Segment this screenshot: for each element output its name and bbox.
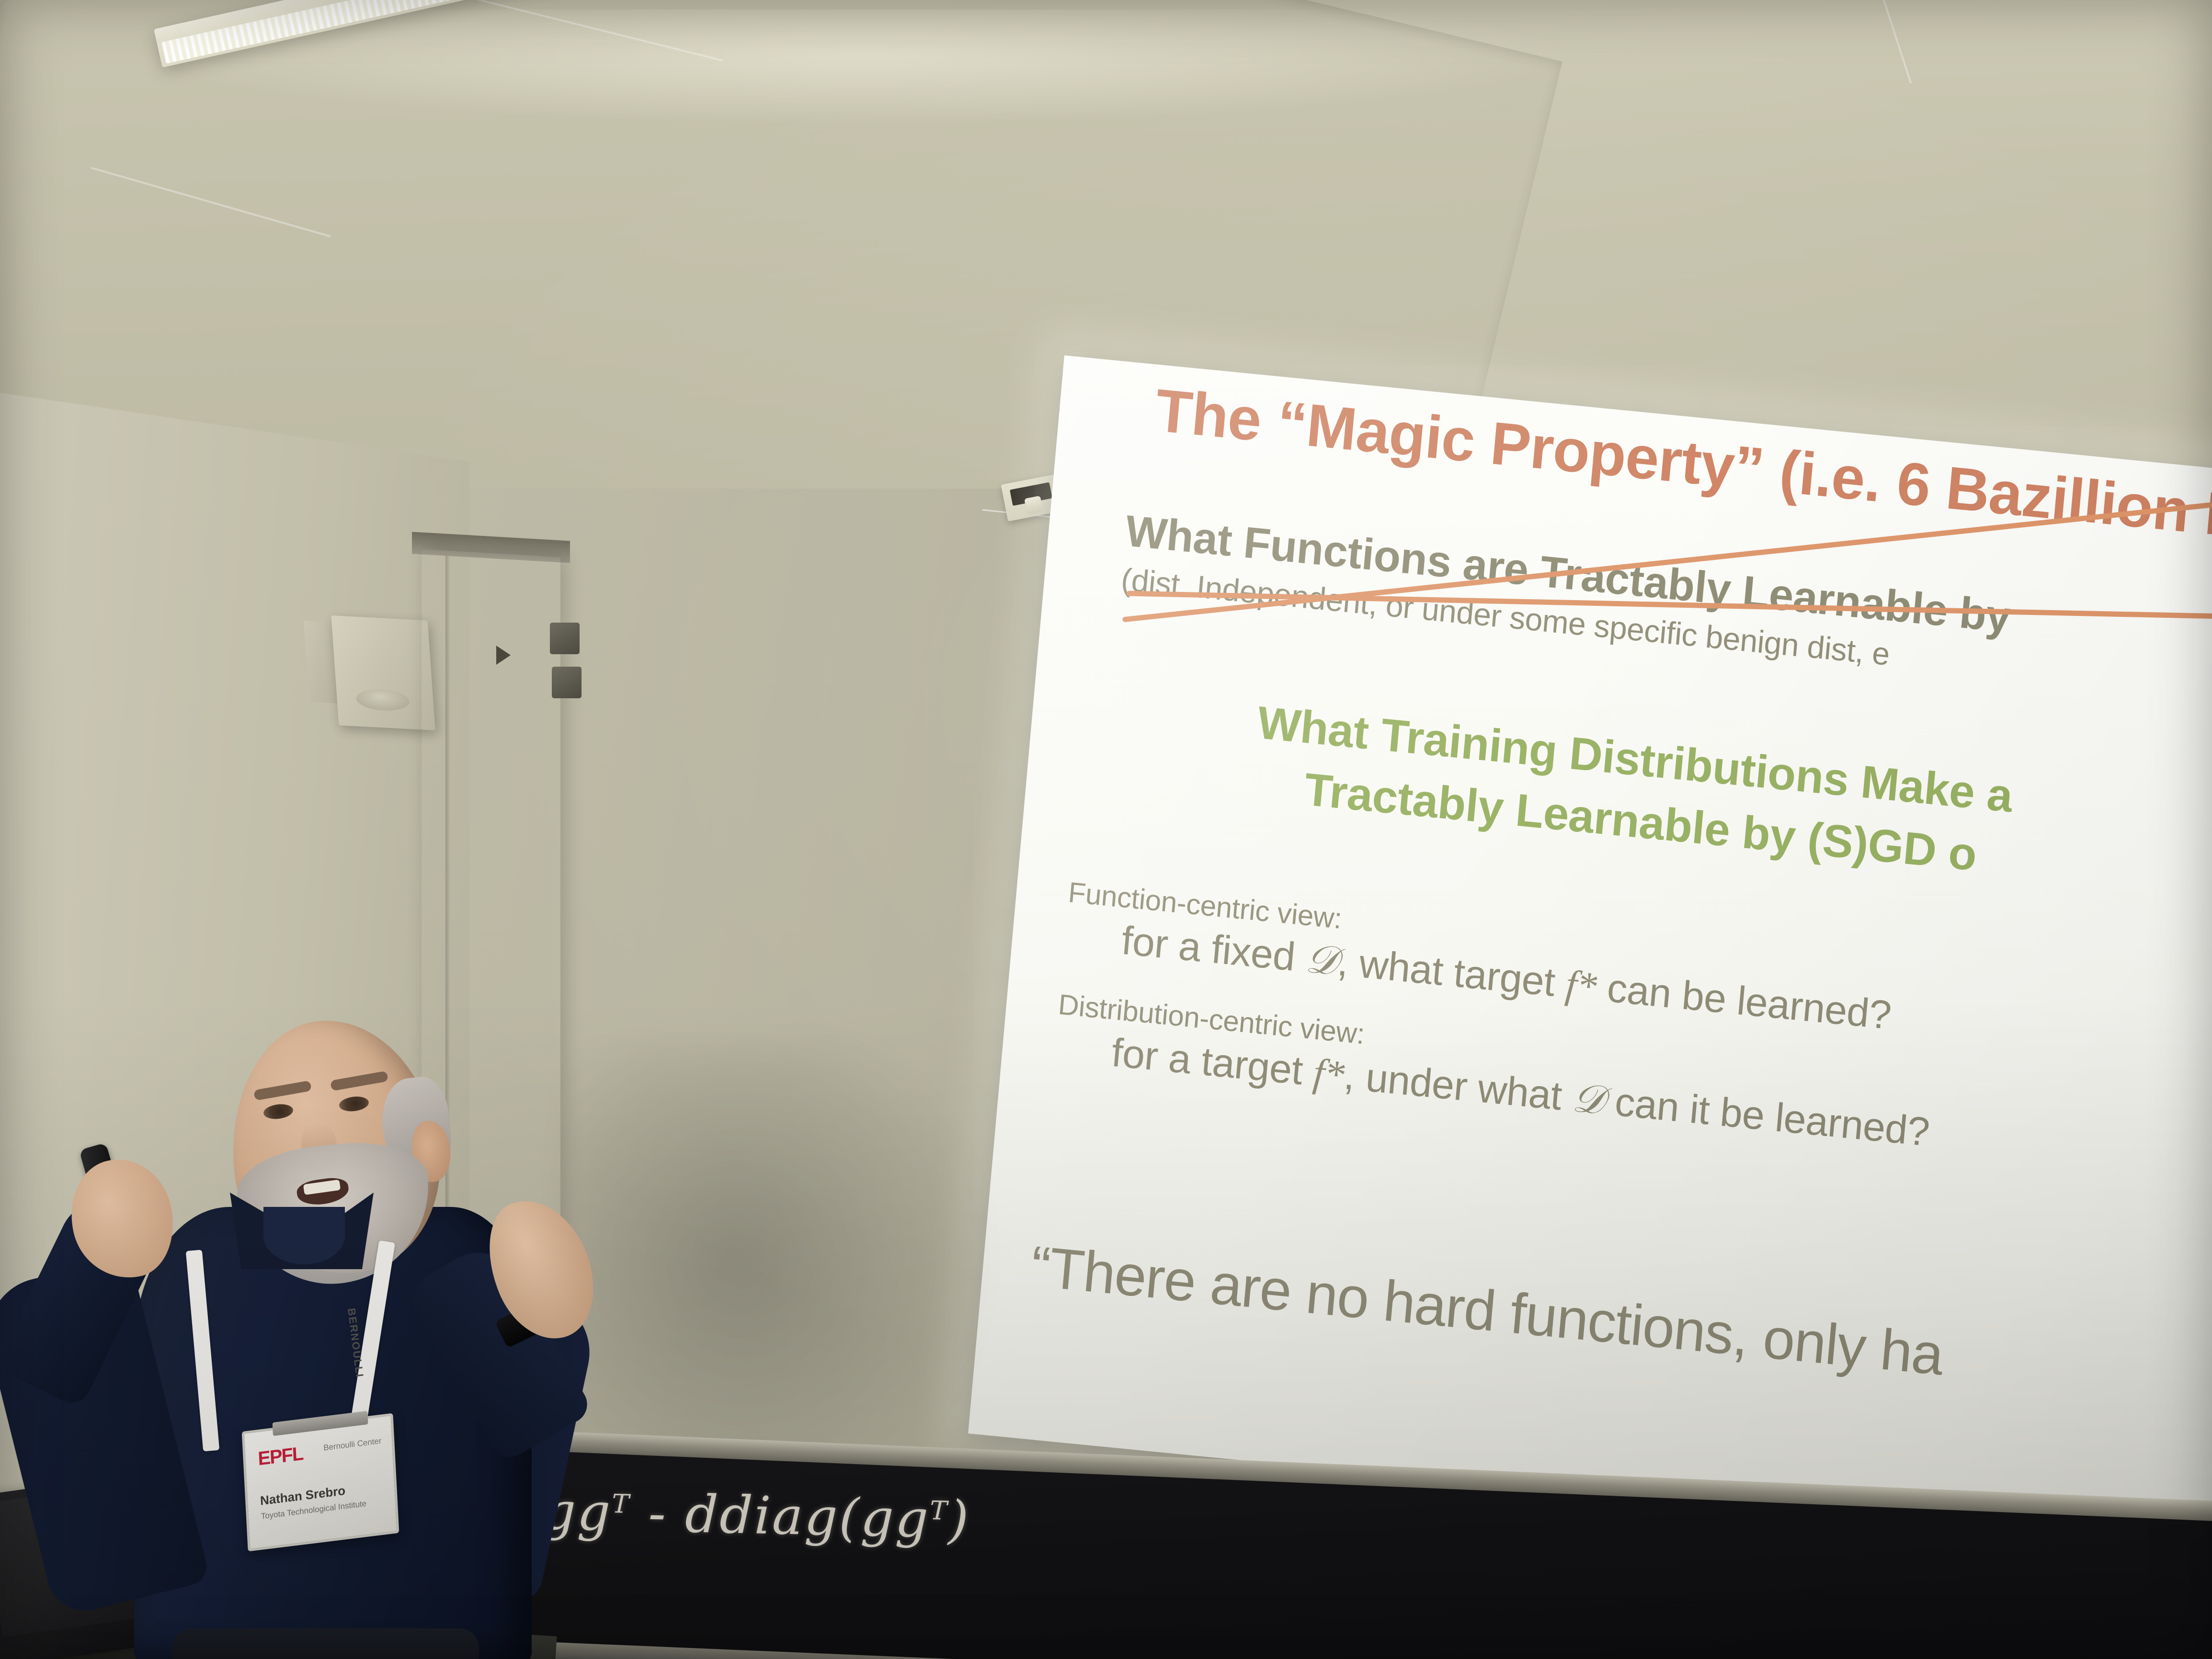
views-block: Function-centric view: for a fixed 𝒟, wh… — [1052, 875, 2212, 1192]
projection-screen: The “Magic Property” (i.e. 6 Bazillion D… — [968, 355, 2212, 1555]
math-symbol-fstar: f* — [1564, 962, 1598, 1010]
partition-hinge[interactable] — [552, 667, 582, 698]
epfl-logo: EPFL — [257, 1443, 303, 1470]
math-symbol-D: 𝒟 — [1304, 936, 1339, 984]
green-question-block: What Training Distributions Make a Tract… — [1249, 692, 2015, 889]
math-symbol-fstar: f* — [1311, 1050, 1346, 1098]
partition-arrow-icon — [496, 646, 511, 665]
partition-hinge[interactable] — [550, 623, 580, 654]
presenter-trousers — [172, 1628, 479, 1659]
wall-mounted-speaker — [331, 615, 435, 730]
struck-question-block: What Functions are Tractably Learnable b… — [1120, 506, 2212, 723]
badge-org: Bernoulli Center — [323, 1436, 382, 1453]
lecture-hall-photo: The “Magic Property” (i.e. 6 Bazillion D… — [0, 0, 2212, 1659]
conference-badge: EPFL Bernoulli Center Nathan Srebro Toyo… — [242, 1413, 399, 1551]
undershirt — [263, 1207, 345, 1264]
presenter: BERNOULLI EPFL Bernoulli Center Nathan S… — [14, 1001, 685, 1659]
slide-content: The “Magic Property” (i.e. 6 Bazillion D… — [968, 355, 2212, 1555]
slide-quote: “There are no hard functions, only ha — [1028, 1233, 1946, 1388]
bracket-clip — [1024, 496, 1043, 515]
math-symbol-D: 𝒟 — [1571, 1076, 1606, 1123]
speaker-cabinet — [331, 615, 435, 730]
